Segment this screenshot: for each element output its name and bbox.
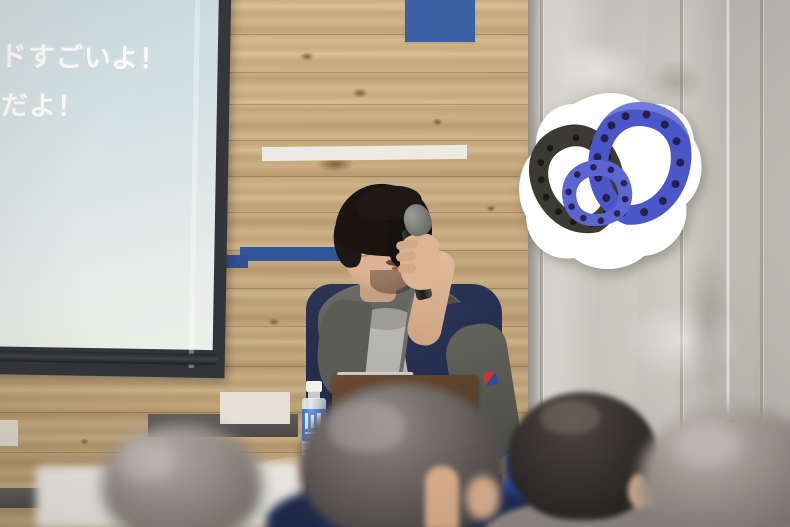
- wall-plank-cream-2: [0, 420, 18, 446]
- wall-tape-blue-top: [405, 0, 475, 42]
- audience-head-center: [290, 384, 520, 527]
- photo-scene: ーボードすごいよ！ る状態だよ！ ージャー: [0, 0, 790, 527]
- wall-plank-cream: [220, 392, 290, 424]
- wall-tape-white: [262, 145, 467, 161]
- slide-line-2: る状態だよ！: [0, 82, 85, 124]
- slide-line-1: ーボードすごいよ！: [0, 33, 168, 76]
- projection-screen: ーボードすごいよ！ る状態だよ！ ージャー: [0, 0, 219, 350]
- audience-raised-hand: [425, 466, 459, 527]
- speaker-finger-3: [398, 263, 417, 273]
- wall-light-seam: [726, 0, 730, 430]
- audience-head-far-right: [640, 404, 790, 527]
- horseshoe-blue-small: [556, 156, 638, 230]
- audience-head-left: [92, 424, 272, 527]
